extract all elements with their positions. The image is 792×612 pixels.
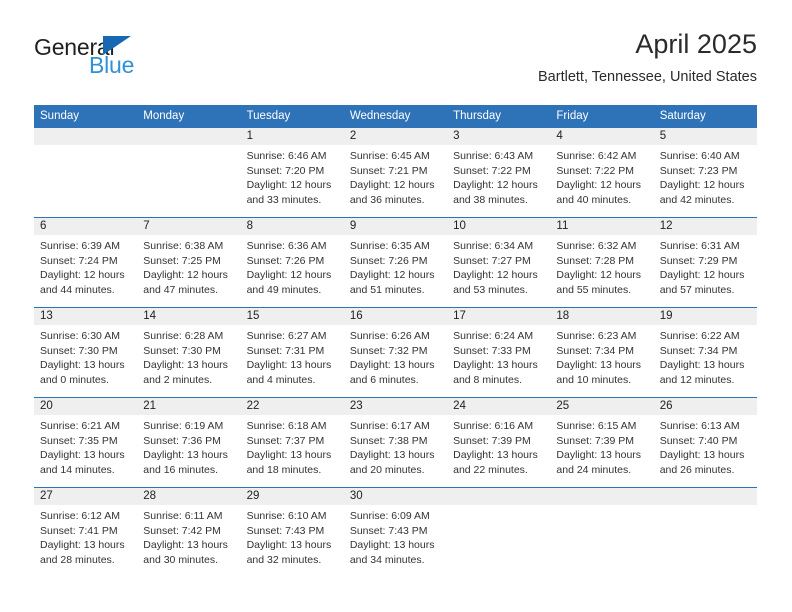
- daylight-text-line1: Daylight: 12 hours: [40, 268, 131, 283]
- daylight-text-line2: and 26 minutes.: [660, 463, 751, 478]
- sunrise-text: Sunrise: 6:30 AM: [40, 329, 131, 344]
- calendar-day-cell-empty: [550, 488, 653, 578]
- day-details: Sunrise: 6:24 AMSunset: 7:33 PMDaylight:…: [447, 325, 550, 397]
- daylight-text-line2: and 22 minutes.: [453, 463, 544, 478]
- sunrise-text: Sunrise: 6:45 AM: [350, 149, 441, 164]
- daylight-text-line1: Daylight: 13 hours: [40, 538, 131, 553]
- calendar-day-cell-empty: [654, 488, 757, 578]
- day-details: Sunrise: 6:15 AMSunset: 7:39 PMDaylight:…: [550, 415, 653, 487]
- calendar-day-cell[interactable]: 27Sunrise: 6:12 AMSunset: 7:41 PMDayligh…: [34, 488, 137, 578]
- calendar-day-cell[interactable]: 11Sunrise: 6:32 AMSunset: 7:28 PMDayligh…: [550, 218, 653, 308]
- daylight-text-line2: and 34 minutes.: [350, 553, 441, 568]
- day-details: Sunrise: 6:17 AMSunset: 7:38 PMDaylight:…: [344, 415, 447, 487]
- sunrise-text: Sunrise: 6:39 AM: [40, 239, 131, 254]
- sunrise-text: Sunrise: 6:24 AM: [453, 329, 544, 344]
- day-details: Sunrise: 6:18 AMSunset: 7:37 PMDaylight:…: [241, 415, 344, 487]
- weekday-header-monday: Monday: [137, 105, 240, 128]
- calendar-day-cell[interactable]: 6Sunrise: 6:39 AMSunset: 7:24 PMDaylight…: [34, 218, 137, 308]
- sunrise-text: Sunrise: 6:32 AM: [556, 239, 647, 254]
- day-details: [654, 505, 757, 577]
- daylight-text-line1: Daylight: 13 hours: [143, 358, 234, 373]
- calendar-day-cell[interactable]: 2Sunrise: 6:45 AMSunset: 7:21 PMDaylight…: [344, 128, 447, 218]
- calendar-day-cell[interactable]: 21Sunrise: 6:19 AMSunset: 7:36 PMDayligh…: [137, 398, 240, 488]
- daylight-text-line2: and 10 minutes.: [556, 373, 647, 388]
- daylight-text-line1: Daylight: 12 hours: [556, 178, 647, 193]
- sunset-text: Sunset: 7:24 PM: [40, 254, 131, 269]
- sunrise-text: Sunrise: 6:34 AM: [453, 239, 544, 254]
- calendar-day-cell-empty: [447, 488, 550, 578]
- daylight-text-line2: and 28 minutes.: [40, 553, 131, 568]
- day-number: 14: [137, 308, 240, 325]
- daylight-text-line1: Daylight: 12 hours: [143, 268, 234, 283]
- weekday-header-saturday: Saturday: [654, 105, 757, 128]
- day-details: Sunrise: 6:36 AMSunset: 7:26 PMDaylight:…: [241, 235, 344, 307]
- daylight-text-line1: Daylight: 13 hours: [660, 358, 751, 373]
- daylight-text-line2: and 53 minutes.: [453, 283, 544, 298]
- daylight-text-line2: and 12 minutes.: [660, 373, 751, 388]
- day-number: [447, 488, 550, 505]
- day-details: Sunrise: 6:38 AMSunset: 7:25 PMDaylight:…: [137, 235, 240, 307]
- sunset-text: Sunset: 7:26 PM: [350, 254, 441, 269]
- day-number: 21: [137, 398, 240, 415]
- day-number: 12: [654, 218, 757, 235]
- sunrise-text: Sunrise: 6:38 AM: [143, 239, 234, 254]
- weekday-header-wednesday: Wednesday: [344, 105, 447, 128]
- calendar-day-cell[interactable]: 29Sunrise: 6:10 AMSunset: 7:43 PMDayligh…: [241, 488, 344, 578]
- day-details: Sunrise: 6:27 AMSunset: 7:31 PMDaylight:…: [241, 325, 344, 397]
- calendar-day-cell[interactable]: 24Sunrise: 6:16 AMSunset: 7:39 PMDayligh…: [447, 398, 550, 488]
- sunset-text: Sunset: 7:28 PM: [556, 254, 647, 269]
- day-details: Sunrise: 6:46 AMSunset: 7:20 PMDaylight:…: [241, 145, 344, 217]
- daylight-text-line2: and 51 minutes.: [350, 283, 441, 298]
- daylight-text-line1: Daylight: 13 hours: [247, 538, 338, 553]
- sunrise-text: Sunrise: 6:28 AM: [143, 329, 234, 344]
- daylight-text-line2: and 14 minutes.: [40, 463, 131, 478]
- calendar-day-cell-empty: [137, 128, 240, 218]
- sunset-text: Sunset: 7:34 PM: [556, 344, 647, 359]
- day-number: 6: [34, 218, 137, 235]
- calendar-day-cell[interactable]: 25Sunrise: 6:15 AMSunset: 7:39 PMDayligh…: [550, 398, 653, 488]
- sunset-text: Sunset: 7:29 PM: [660, 254, 751, 269]
- sunrise-text: Sunrise: 6:15 AM: [556, 419, 647, 434]
- sunset-text: Sunset: 7:40 PM: [660, 434, 751, 449]
- sunset-text: Sunset: 7:30 PM: [143, 344, 234, 359]
- sunrise-text: Sunrise: 6:26 AM: [350, 329, 441, 344]
- calendar-day-cell[interactable]: 1Sunrise: 6:46 AMSunset: 7:20 PMDaylight…: [241, 128, 344, 218]
- sunset-text: Sunset: 7:27 PM: [453, 254, 544, 269]
- day-number: 28: [137, 488, 240, 505]
- calendar-day-cell[interactable]: 10Sunrise: 6:34 AMSunset: 7:27 PMDayligh…: [447, 218, 550, 308]
- page-subtitle: Bartlett, Tennessee, United States: [538, 67, 757, 87]
- day-number: 27: [34, 488, 137, 505]
- day-number: 15: [241, 308, 344, 325]
- sunrise-text: Sunrise: 6:27 AM: [247, 329, 338, 344]
- sunset-text: Sunset: 7:38 PM: [350, 434, 441, 449]
- day-details: Sunrise: 6:28 AMSunset: 7:30 PMDaylight:…: [137, 325, 240, 397]
- sunset-text: Sunset: 7:34 PM: [660, 344, 751, 359]
- daylight-text-line2: and 4 minutes.: [247, 373, 338, 388]
- daylight-text-line1: Daylight: 12 hours: [350, 178, 441, 193]
- sunrise-text: Sunrise: 6:12 AM: [40, 509, 131, 524]
- calendar-day-cell[interactable]: 20Sunrise: 6:21 AMSunset: 7:35 PMDayligh…: [34, 398, 137, 488]
- daylight-text-line1: Daylight: 13 hours: [350, 358, 441, 373]
- calendar-day-cell[interactable]: 19Sunrise: 6:22 AMSunset: 7:34 PMDayligh…: [654, 308, 757, 398]
- calendar-day-cell[interactable]: 28Sunrise: 6:11 AMSunset: 7:42 PMDayligh…: [137, 488, 240, 578]
- sunset-text: Sunset: 7:21 PM: [350, 164, 441, 179]
- daylight-text-line1: Daylight: 13 hours: [660, 448, 751, 463]
- day-details: Sunrise: 6:43 AMSunset: 7:22 PMDaylight:…: [447, 145, 550, 217]
- brand-name-blue: Blue: [89, 52, 134, 79]
- day-details: Sunrise: 6:30 AMSunset: 7:30 PMDaylight:…: [34, 325, 137, 397]
- daylight-text-line2: and 32 minutes.: [247, 553, 338, 568]
- daylight-text-line2: and 20 minutes.: [350, 463, 441, 478]
- sunset-text: Sunset: 7:42 PM: [143, 524, 234, 539]
- day-details: Sunrise: 6:32 AMSunset: 7:28 PMDaylight:…: [550, 235, 653, 307]
- sunset-text: Sunset: 7:37 PM: [247, 434, 338, 449]
- page-title: April 2025: [538, 28, 757, 60]
- daylight-text-line2: and 16 minutes.: [143, 463, 234, 478]
- daylight-text-line1: Daylight: 13 hours: [350, 448, 441, 463]
- day-number: 17: [447, 308, 550, 325]
- sunrise-text: Sunrise: 6:16 AM: [453, 419, 544, 434]
- daylight-text-line1: Daylight: 12 hours: [453, 178, 544, 193]
- calendar-day-cell[interactable]: 3Sunrise: 6:43 AMSunset: 7:22 PMDaylight…: [447, 128, 550, 218]
- sunset-text: Sunset: 7:22 PM: [453, 164, 544, 179]
- weekday-header-sunday: Sunday: [34, 105, 137, 128]
- day-details: Sunrise: 6:10 AMSunset: 7:43 PMDaylight:…: [241, 505, 344, 577]
- day-details: Sunrise: 6:26 AMSunset: 7:32 PMDaylight:…: [344, 325, 447, 397]
- weekday-header-row: Sunday Monday Tuesday Wednesday Thursday…: [34, 105, 757, 128]
- day-details: [447, 505, 550, 577]
- daylight-text-line2: and 38 minutes.: [453, 193, 544, 208]
- day-details: Sunrise: 6:11 AMSunset: 7:42 PMDaylight:…: [137, 505, 240, 577]
- sunrise-text: Sunrise: 6:35 AM: [350, 239, 441, 254]
- daylight-text-line2: and 18 minutes.: [247, 463, 338, 478]
- daylight-text-line2: and 24 minutes.: [556, 463, 647, 478]
- day-details: Sunrise: 6:23 AMSunset: 7:34 PMDaylight:…: [550, 325, 653, 397]
- sunset-text: Sunset: 7:20 PM: [247, 164, 338, 179]
- day-details: [137, 145, 240, 217]
- daylight-text-line2: and 33 minutes.: [247, 193, 338, 208]
- day-number: 29: [241, 488, 344, 505]
- daylight-text-line1: Daylight: 13 hours: [350, 538, 441, 553]
- day-number: 7: [137, 218, 240, 235]
- day-details: [550, 505, 653, 577]
- calendar-day-cell[interactable]: 5Sunrise: 6:40 AMSunset: 7:23 PMDaylight…: [654, 128, 757, 218]
- sunset-text: Sunset: 7:32 PM: [350, 344, 441, 359]
- daylight-text-line2: and 6 minutes.: [350, 373, 441, 388]
- day-number: 1: [241, 128, 344, 145]
- day-number: 11: [550, 218, 653, 235]
- day-number: 25: [550, 398, 653, 415]
- daylight-text-line1: Daylight: 12 hours: [453, 268, 544, 283]
- daylight-text-line1: Daylight: 13 hours: [247, 358, 338, 373]
- calendar-day-cell[interactable]: 14Sunrise: 6:28 AMSunset: 7:30 PMDayligh…: [137, 308, 240, 398]
- calendar-day-cell[interactable]: 18Sunrise: 6:23 AMSunset: 7:34 PMDayligh…: [550, 308, 653, 398]
- daylight-text-line1: Daylight: 13 hours: [453, 358, 544, 373]
- day-details: Sunrise: 6:34 AMSunset: 7:27 PMDaylight:…: [447, 235, 550, 307]
- day-number: 10: [447, 218, 550, 235]
- daylight-text-line1: Daylight: 13 hours: [453, 448, 544, 463]
- sunrise-text: Sunrise: 6:36 AM: [247, 239, 338, 254]
- day-number: [654, 488, 757, 505]
- sunset-text: Sunset: 7:30 PM: [40, 344, 131, 359]
- day-number: 22: [241, 398, 344, 415]
- calendar-week-row: 1Sunrise: 6:46 AMSunset: 7:20 PMDaylight…: [34, 128, 757, 218]
- sunrise-text: Sunrise: 6:17 AM: [350, 419, 441, 434]
- day-number: [137, 128, 240, 145]
- day-number: 23: [344, 398, 447, 415]
- sunrise-text: Sunrise: 6:23 AM: [556, 329, 647, 344]
- sunset-text: Sunset: 7:23 PM: [660, 164, 751, 179]
- calendar-day-cell[interactable]: 16Sunrise: 6:26 AMSunset: 7:32 PMDayligh…: [344, 308, 447, 398]
- day-number: 13: [34, 308, 137, 325]
- calendar-body: 1Sunrise: 6:46 AMSunset: 7:20 PMDaylight…: [34, 128, 757, 577]
- day-details: Sunrise: 6:22 AMSunset: 7:34 PMDaylight:…: [654, 325, 757, 397]
- day-number: 16: [344, 308, 447, 325]
- title-block: April 2025 Bartlett, Tennessee, United S…: [538, 28, 757, 87]
- sunrise-text: Sunrise: 6:21 AM: [40, 419, 131, 434]
- calendar-day-cell[interactable]: 7Sunrise: 6:38 AMSunset: 7:25 PMDaylight…: [137, 218, 240, 308]
- day-details: [34, 145, 137, 217]
- sunset-text: Sunset: 7:33 PM: [453, 344, 544, 359]
- daylight-text-line1: Daylight: 13 hours: [247, 448, 338, 463]
- daylight-text-line1: Daylight: 12 hours: [247, 268, 338, 283]
- day-number: 18: [550, 308, 653, 325]
- sunrise-text: Sunrise: 6:11 AM: [143, 509, 234, 524]
- day-details: Sunrise: 6:12 AMSunset: 7:41 PMDaylight:…: [34, 505, 137, 577]
- daylight-text-line2: and 40 minutes.: [556, 193, 647, 208]
- sunrise-text: Sunrise: 6:46 AM: [247, 149, 338, 164]
- daylight-text-line1: Daylight: 13 hours: [143, 448, 234, 463]
- day-number: 3: [447, 128, 550, 145]
- calendar-day-cell[interactable]: 30Sunrise: 6:09 AMSunset: 7:43 PMDayligh…: [344, 488, 447, 578]
- daylight-text-line2: and 0 minutes.: [40, 373, 131, 388]
- day-number: 24: [447, 398, 550, 415]
- calendar-day-cell[interactable]: 12Sunrise: 6:31 AMSunset: 7:29 PMDayligh…: [654, 218, 757, 308]
- weekday-header-tuesday: Tuesday: [241, 105, 344, 128]
- sunrise-text: Sunrise: 6:13 AM: [660, 419, 751, 434]
- day-number: 30: [344, 488, 447, 505]
- sunset-text: Sunset: 7:26 PM: [247, 254, 338, 269]
- sunset-text: Sunset: 7:25 PM: [143, 254, 234, 269]
- calendar-day-cell[interactable]: 15Sunrise: 6:27 AMSunset: 7:31 PMDayligh…: [241, 308, 344, 398]
- calendar-table: Sunday Monday Tuesday Wednesday Thursday…: [34, 105, 757, 577]
- daylight-text-line1: Daylight: 13 hours: [40, 448, 131, 463]
- day-number: 26: [654, 398, 757, 415]
- sunrise-text: Sunrise: 6:10 AM: [247, 509, 338, 524]
- day-number: 9: [344, 218, 447, 235]
- calendar-day-cell[interactable]: 8Sunrise: 6:36 AMSunset: 7:26 PMDaylight…: [241, 218, 344, 308]
- day-number: [550, 488, 653, 505]
- calendar-day-cell-empty: [34, 128, 137, 218]
- daylight-text-line1: Daylight: 13 hours: [556, 448, 647, 463]
- calendar-page: General Blue April 2025 Bartlett, Tennes…: [0, 0, 792, 612]
- day-details: Sunrise: 6:16 AMSunset: 7:39 PMDaylight:…: [447, 415, 550, 487]
- calendar-day-cell[interactable]: 23Sunrise: 6:17 AMSunset: 7:38 PMDayligh…: [344, 398, 447, 488]
- calendar-day-cell[interactable]: 26Sunrise: 6:13 AMSunset: 7:40 PMDayligh…: [654, 398, 757, 488]
- sunrise-text: Sunrise: 6:40 AM: [660, 149, 751, 164]
- sunset-text: Sunset: 7:35 PM: [40, 434, 131, 449]
- day-details: Sunrise: 6:09 AMSunset: 7:43 PMDaylight:…: [344, 505, 447, 577]
- daylight-text-line2: and 36 minutes.: [350, 193, 441, 208]
- day-details: Sunrise: 6:40 AMSunset: 7:23 PMDaylight:…: [654, 145, 757, 217]
- daylight-text-line1: Daylight: 13 hours: [143, 538, 234, 553]
- page-header: General Blue April 2025 Bartlett, Tennes…: [34, 28, 757, 90]
- daylight-text-line1: Daylight: 12 hours: [556, 268, 647, 283]
- sunset-text: Sunset: 7:39 PM: [556, 434, 647, 449]
- sunset-text: Sunset: 7:36 PM: [143, 434, 234, 449]
- day-details: Sunrise: 6:42 AMSunset: 7:22 PMDaylight:…: [550, 145, 653, 217]
- daylight-text-line2: and 57 minutes.: [660, 283, 751, 298]
- sunrise-text: Sunrise: 6:22 AM: [660, 329, 751, 344]
- day-details: Sunrise: 6:31 AMSunset: 7:29 PMDaylight:…: [654, 235, 757, 307]
- daylight-text-line1: Daylight: 13 hours: [556, 358, 647, 373]
- sunset-text: Sunset: 7:43 PM: [350, 524, 441, 539]
- day-number: 4: [550, 128, 653, 145]
- calendar-week-row: 27Sunrise: 6:12 AMSunset: 7:41 PMDayligh…: [34, 488, 757, 578]
- daylight-text-line1: Daylight: 13 hours: [40, 358, 131, 373]
- sunrise-text: Sunrise: 6:42 AM: [556, 149, 647, 164]
- weekday-header-thursday: Thursday: [447, 105, 550, 128]
- sunset-text: Sunset: 7:22 PM: [556, 164, 647, 179]
- day-details: Sunrise: 6:45 AMSunset: 7:21 PMDaylight:…: [344, 145, 447, 217]
- day-details: Sunrise: 6:39 AMSunset: 7:24 PMDaylight:…: [34, 235, 137, 307]
- sunrise-text: Sunrise: 6:18 AM: [247, 419, 338, 434]
- calendar-week-row: 6Sunrise: 6:39 AMSunset: 7:24 PMDaylight…: [34, 218, 757, 308]
- day-number: 5: [654, 128, 757, 145]
- sunset-text: Sunset: 7:43 PM: [247, 524, 338, 539]
- day-number: 19: [654, 308, 757, 325]
- day-details: Sunrise: 6:35 AMSunset: 7:26 PMDaylight:…: [344, 235, 447, 307]
- sunrise-text: Sunrise: 6:43 AM: [453, 149, 544, 164]
- daylight-text-line1: Daylight: 12 hours: [660, 178, 751, 193]
- brand-logo[interactable]: General Blue: [34, 34, 214, 84]
- daylight-text-line1: Daylight: 12 hours: [247, 178, 338, 193]
- daylight-text-line2: and 8 minutes.: [453, 373, 544, 388]
- daylight-text-line2: and 55 minutes.: [556, 283, 647, 298]
- daylight-text-line2: and 47 minutes.: [143, 283, 234, 298]
- daylight-text-line1: Daylight: 12 hours: [660, 268, 751, 283]
- sunrise-text: Sunrise: 6:09 AM: [350, 509, 441, 524]
- calendar-week-row: 13Sunrise: 6:30 AMSunset: 7:30 PMDayligh…: [34, 308, 757, 398]
- sunset-text: Sunset: 7:41 PM: [40, 524, 131, 539]
- calendar-day-cell[interactable]: 17Sunrise: 6:24 AMSunset: 7:33 PMDayligh…: [447, 308, 550, 398]
- day-details: Sunrise: 6:19 AMSunset: 7:36 PMDaylight:…: [137, 415, 240, 487]
- daylight-text-line2: and 44 minutes.: [40, 283, 131, 298]
- calendar-day-cell[interactable]: 22Sunrise: 6:18 AMSunset: 7:37 PMDayligh…: [241, 398, 344, 488]
- daylight-text-line2: and 42 minutes.: [660, 193, 751, 208]
- calendar-week-row: 20Sunrise: 6:21 AMSunset: 7:35 PMDayligh…: [34, 398, 757, 488]
- daylight-text-line2: and 2 minutes.: [143, 373, 234, 388]
- day-number: 20: [34, 398, 137, 415]
- weekday-header-friday: Friday: [550, 105, 653, 128]
- day-number: 8: [241, 218, 344, 235]
- sunset-text: Sunset: 7:39 PM: [453, 434, 544, 449]
- day-number: [34, 128, 137, 145]
- calendar-day-cell[interactable]: 13Sunrise: 6:30 AMSunset: 7:30 PMDayligh…: [34, 308, 137, 398]
- daylight-text-line2: and 49 minutes.: [247, 283, 338, 298]
- sunset-text: Sunset: 7:31 PM: [247, 344, 338, 359]
- day-details: Sunrise: 6:21 AMSunset: 7:35 PMDaylight:…: [34, 415, 137, 487]
- calendar-day-cell[interactable]: 4Sunrise: 6:42 AMSunset: 7:22 PMDaylight…: [550, 128, 653, 218]
- sunrise-text: Sunrise: 6:31 AM: [660, 239, 751, 254]
- day-details: Sunrise: 6:13 AMSunset: 7:40 PMDaylight:…: [654, 415, 757, 487]
- calendar-day-cell[interactable]: 9Sunrise: 6:35 AMSunset: 7:26 PMDaylight…: [344, 218, 447, 308]
- day-number: 2: [344, 128, 447, 145]
- daylight-text-line2: and 30 minutes.: [143, 553, 234, 568]
- daylight-text-line1: Daylight: 12 hours: [350, 268, 441, 283]
- sunrise-text: Sunrise: 6:19 AM: [143, 419, 234, 434]
